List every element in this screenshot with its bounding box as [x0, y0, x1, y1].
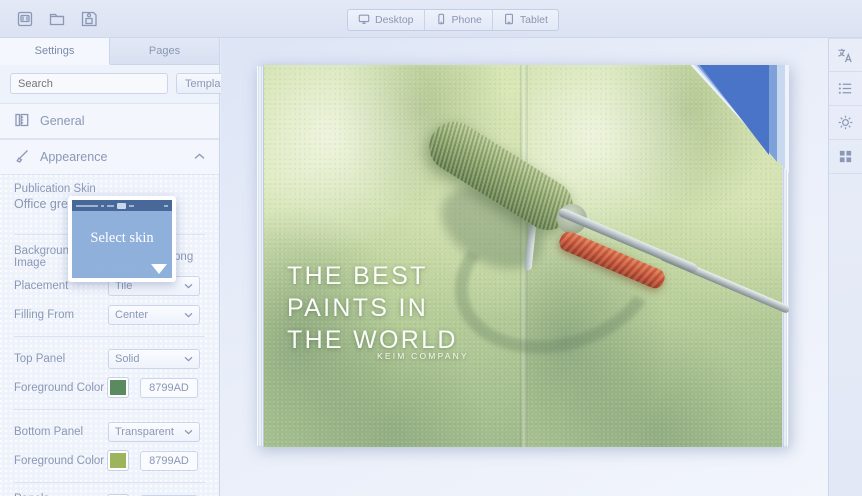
filling-from-select[interactable]: Center — [108, 305, 200, 325]
new-document-icon[interactable] — [14, 8, 36, 30]
top-panel-fg-label: Foreground Color — [14, 382, 108, 394]
skin-bar-box — [117, 203, 126, 209]
chevron-down-icon — [184, 281, 193, 291]
skin-bar-sep — [101, 205, 104, 207]
device-label-tablet: Tablet — [520, 14, 548, 26]
section-general[interactable]: General — [0, 103, 219, 139]
top-panel-label: Top Panel — [14, 353, 108, 365]
publication-preview[interactable]: THE BEST PAINTS IN THE WORLD KEIM COMPAN… — [257, 65, 789, 447]
top-panel-select[interactable]: Solid — [108, 349, 200, 369]
grid-icon[interactable] — [829, 140, 862, 174]
section-appearence[interactable]: Appearence — [0, 139, 219, 175]
tablet-icon — [503, 13, 515, 28]
app-window: Desktop Phone Tablet Settings Pag — [0, 0, 862, 496]
section-appearence-label: Appearence — [40, 150, 107, 164]
chevron-down-icon — [184, 310, 193, 320]
monitor-icon — [358, 13, 370, 28]
divider — [14, 482, 205, 483]
bottom-panel-select[interactable]: Transparent — [108, 422, 200, 442]
skin-bar-line — [164, 205, 168, 207]
device-label-desktop: Desktop — [375, 14, 414, 26]
top-panel-value: Solid — [115, 353, 139, 365]
page-edges-left — [257, 65, 264, 447]
tab-settings-label: Settings — [35, 45, 75, 57]
skin-bar-line — [107, 205, 114, 207]
cover-title-line-1: THE BEST — [287, 260, 458, 292]
top-panel-fg-hex[interactable]: 8799AD — [140, 378, 198, 398]
section-general-label: General — [40, 114, 84, 128]
device-label-phone: Phone — [452, 14, 482, 26]
device-btn-tablet[interactable]: Tablet — [493, 10, 558, 30]
field-top-panel: Top Panel Solid — [14, 346, 205, 371]
bottom-panel-label: Bottom Panel — [14, 426, 108, 438]
skin-bar-line — [129, 205, 134, 207]
list-icon[interactable] — [829, 72, 862, 106]
skin-preview: Select skin · · · · · · · · · · · · — [72, 200, 172, 278]
skin-bar-line — [76, 205, 98, 207]
filling-from-value: Center — [115, 309, 148, 321]
bottom-panel-fg-label: Foreground Color — [14, 455, 108, 467]
phone-icon — [435, 13, 447, 28]
chevron-down-icon — [184, 427, 193, 437]
field-top-panel-foreground-color: Foreground Color 8799AD — [14, 375, 205, 400]
divider — [14, 409, 205, 410]
brush-icon — [14, 148, 30, 167]
save-disk-icon[interactable] — [78, 8, 100, 30]
bottom-panel-value: Transparent — [115, 426, 174, 438]
settings-panel: Settings Pages Template General — [0, 38, 220, 496]
field-bottom-panel: Bottom Panel Transparent — [14, 419, 205, 444]
filling-from-label: Filling From — [14, 309, 108, 321]
cover-title: THE BEST PAINTS IN THE WORLD — [287, 260, 458, 356]
panel-tabs: Settings Pages — [0, 38, 219, 65]
tab-pages-label: Pages — [149, 45, 180, 57]
top-panel-fg-swatch[interactable] — [108, 378, 128, 397]
cover-title-line-2: PAINTS IN — [287, 292, 458, 324]
bottom-panel-fg-hex[interactable]: 8799AD — [140, 451, 198, 471]
field-bottom-panel-foreground-color: Foreground Color 8799AD — [14, 448, 205, 473]
page-turn-corner[interactable] — [669, 65, 789, 205]
skin-selector-popup[interactable]: Select skin · · · · · · · · · · · · — [68, 196, 176, 282]
gear-icon[interactable] — [829, 106, 862, 140]
ruler-icon — [14, 112, 30, 131]
device-preview-switch[interactable]: Desktop Phone Tablet — [347, 9, 559, 31]
skin-preview-toolbar — [72, 200, 172, 211]
device-btn-phone[interactable]: Phone — [425, 10, 493, 30]
tab-pages[interactable]: Pages — [110, 38, 219, 65]
file-tool-icons — [14, 8, 100, 30]
triangle-down-icon[interactable] — [151, 264, 167, 274]
open-folder-icon[interactable] — [46, 8, 68, 30]
right-toolbar — [828, 38, 862, 496]
search-input[interactable] — [10, 73, 168, 94]
publication-skin-label: Publication Skin — [14, 183, 96, 195]
divider — [14, 336, 205, 337]
cover-subtitle: KEIM COMPANY — [377, 351, 469, 361]
chevron-down-icon — [184, 354, 193, 364]
field-panels-background: Panels Background 8799AD — [14, 492, 205, 496]
tab-settings[interactable]: Settings — [0, 38, 110, 65]
device-btn-desktop[interactable]: Desktop — [348, 10, 425, 30]
search-row: Template — [0, 65, 219, 103]
translate-icon[interactable] — [829, 38, 862, 72]
chevron-up-icon — [194, 151, 205, 163]
field-filling-from: Filling From Center — [14, 302, 205, 327]
bottom-panel-fg-swatch[interactable] — [108, 451, 128, 470]
page-turn-layer — [695, 65, 769, 155]
preview-workspace: THE BEST PAINTS IN THE WORLD KEIM COMPAN… — [221, 38, 828, 496]
top-toolbar: Desktop Phone Tablet — [0, 0, 862, 38]
panels-background-label: Panels Background — [14, 493, 108, 496]
skin-popup-title: Select skin — [72, 230, 172, 247]
